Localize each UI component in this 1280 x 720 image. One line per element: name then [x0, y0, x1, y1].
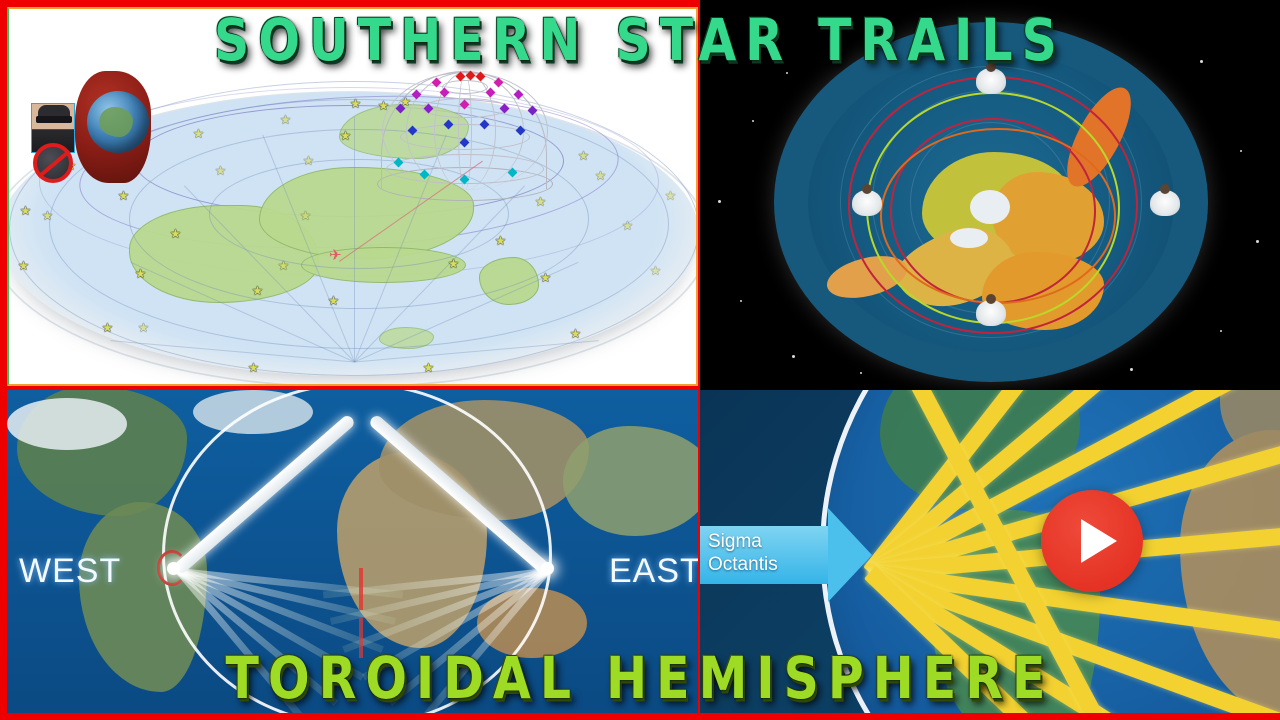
star-marker: ★ — [339, 129, 352, 142]
star-speck — [1240, 150, 1242, 152]
star-marker: ★ — [539, 271, 552, 284]
star-marker: ★ — [279, 113, 292, 126]
label-east: EAST — [609, 552, 698, 591]
star-marker: ★ — [192, 127, 205, 140]
node-west — [167, 562, 180, 575]
panel-sigma-octantis-rays[interactable]: Sigma Octantis — [700, 390, 1280, 713]
center-marker-line — [359, 618, 363, 658]
star-marker: ★ — [17, 259, 30, 272]
star-marker: ★ — [664, 189, 677, 202]
star-marker: ★ — [422, 361, 435, 374]
figure-south — [976, 300, 1006, 326]
star-speck — [1130, 368, 1133, 371]
star-marker: ★ — [117, 189, 130, 202]
star-marker: ★ — [214, 164, 227, 177]
star-speck — [786, 72, 788, 74]
star-marker: ★ — [169, 227, 182, 240]
star-marker: ★ — [41, 209, 54, 222]
star-marker: ★ — [569, 327, 582, 340]
star-marker: ★ — [19, 204, 32, 217]
figure-west — [852, 190, 882, 216]
channel-watermark[interactable] — [29, 71, 151, 189]
star-speck — [1200, 60, 1203, 63]
center-marker-line — [359, 568, 363, 610]
star-speck — [1256, 240, 1259, 243]
sigma-octantis-line1: Sigma — [708, 530, 838, 553]
star-speck — [792, 355, 795, 358]
aircraft-icon: ✈ — [329, 249, 355, 263]
sigma-octantis-line2: Octantis — [708, 553, 838, 576]
label-west: WEST — [19, 552, 121, 591]
star-marker: ★ — [299, 209, 312, 222]
meridian-0 — [354, 117, 355, 362]
star-speck — [724, 40, 727, 43]
screenshot-stage: ★ ★ ★ ★ ★ ★ ★ ★ ★ ★ ★ ★ ★ ★ ★ ★ ★ ★ ★ ★ … — [0, 0, 1280, 720]
star-marker: ★ — [327, 294, 340, 307]
star-marker: ★ — [621, 219, 634, 232]
youtube-play-button[interactable] — [1041, 490, 1143, 592]
star-marker: ★ — [247, 361, 260, 374]
star-marker: ★ — [594, 169, 607, 182]
panel-flat-earth-dome-diagram[interactable]: ★ ★ ★ ★ ★ ★ ★ ★ ★ ★ ★ ★ ★ ★ ★ ★ ★ ★ ★ ★ … — [7, 7, 698, 386]
star-marker: ★ — [577, 149, 590, 162]
star-marker: ★ — [302, 154, 315, 167]
panel-toroidal-hemisphere-beams[interactable]: WEST EAST — [7, 390, 698, 713]
figure-east — [1150, 190, 1180, 216]
star-speck — [1030, 22, 1032, 24]
hemisphere-ellipse — [162, 390, 552, 713]
polar-ice-northwest — [7, 398, 127, 450]
star-marker: ★ — [447, 257, 460, 270]
star-marker: ★ — [649, 264, 662, 277]
star-marker: ★ — [534, 195, 547, 208]
star-marker: ★ — [251, 284, 264, 297]
star-speck — [740, 300, 742, 302]
star-speck — [860, 372, 862, 374]
star-marker: ★ — [134, 267, 147, 280]
star-marker: ★ — [277, 259, 290, 272]
sigma-octantis-label: Sigma Octantis — [708, 530, 838, 576]
globe-icon — [87, 91, 149, 153]
node-east — [541, 562, 554, 575]
star-marker: ★ — [137, 321, 150, 334]
continent-asia — [563, 426, 698, 536]
orbit-ring-orange — [880, 128, 1116, 304]
star-speck — [718, 200, 721, 203]
panel-azimuthal-flat-map-animation[interactable] — [700, 0, 1280, 390]
star-marker: ★ — [101, 321, 114, 334]
star-speck — [1220, 330, 1222, 332]
figure-north — [976, 68, 1006, 94]
star-speck — [752, 120, 754, 122]
star-marker: ★ — [494, 234, 507, 247]
star-marker: ★ — [349, 97, 362, 110]
no-globe-prohibition-icon — [33, 143, 73, 183]
